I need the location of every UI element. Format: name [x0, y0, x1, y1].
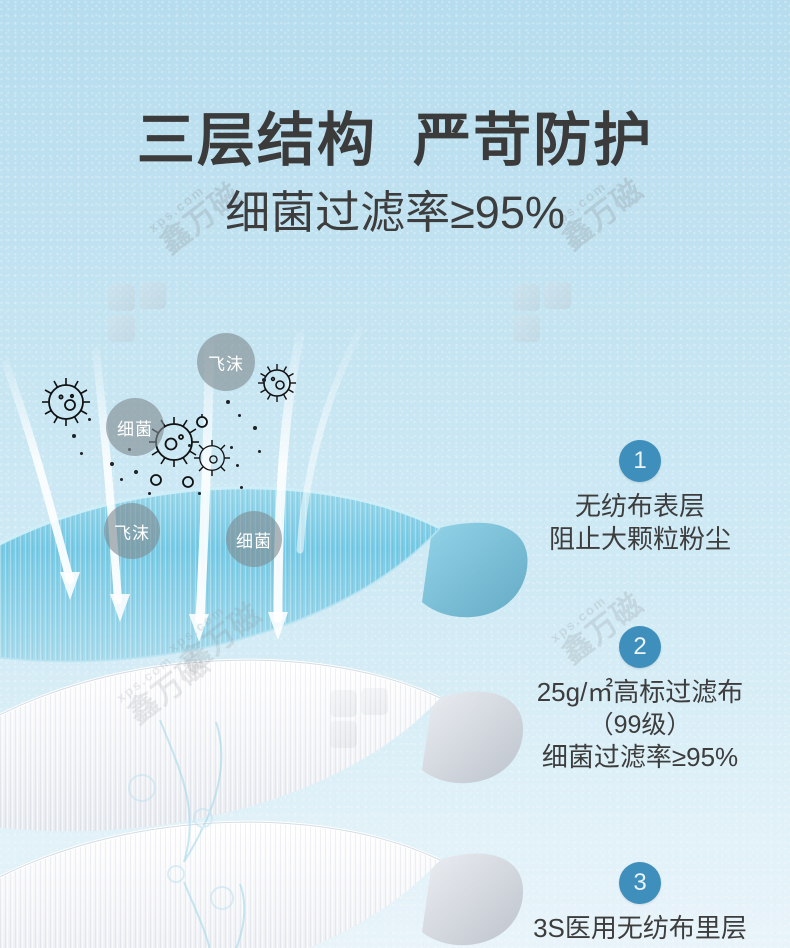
page-subtitle: 细菌过滤率≥95% [0, 190, 790, 235]
layer-badge-1: 1 [619, 440, 661, 482]
germ-icon-upper-right [254, 360, 300, 406]
marker-label: 飞沫 [114, 519, 150, 544]
germ-icon [194, 440, 230, 476]
layer-text-line: 细菌过滤率≥95% [490, 741, 790, 774]
layer-text-line: 25g/㎡高标过滤布 [490, 676, 790, 709]
marker-bacteria-left: 细菌 [106, 398, 164, 456]
marker-droplet-lower: 飞沫 [104, 503, 160, 559]
badge-number: 3 [633, 869, 646, 897]
germ-icon [42, 378, 90, 426]
badge-number: 1 [633, 447, 646, 475]
marker-bacteria-lower: 细菌 [226, 511, 282, 567]
layer-text-line: 阻止大颗粒粉尘 [490, 523, 790, 556]
layer-text-line: 无纺布表层 [490, 490, 790, 523]
layer-callout-2: 2 25g/㎡高标过滤布 （99级） 细菌过滤率≥95% [490, 626, 790, 775]
marker-label: 细菌 [236, 527, 272, 552]
layer-callout-3: 3 3S医用无纺布里层 [490, 862, 790, 945]
marker-label: 飞沫 [208, 350, 244, 375]
product-infographic: 飞沫 细菌 飞沫 细菌 xps.com 鑫万磁 xps.com 鑫万磁 xps.… [0, 0, 790, 948]
layer-text-line: （99级） [490, 709, 790, 741]
badge-number: 2 [633, 633, 646, 661]
marker-label: 细菌 [117, 415, 153, 440]
layer-callout-1: 1 无纺布表层 阻止大颗粒粉尘 [490, 440, 790, 557]
layer-text-line: 3S医用无纺布里层 [490, 912, 790, 945]
page-title: 三层结构 严苛防护 [0, 112, 790, 170]
marker-droplet-top: 飞沫 [197, 333, 255, 391]
layer-badge-3: 3 [619, 862, 661, 904]
layer-badge-2: 2 [619, 626, 661, 668]
